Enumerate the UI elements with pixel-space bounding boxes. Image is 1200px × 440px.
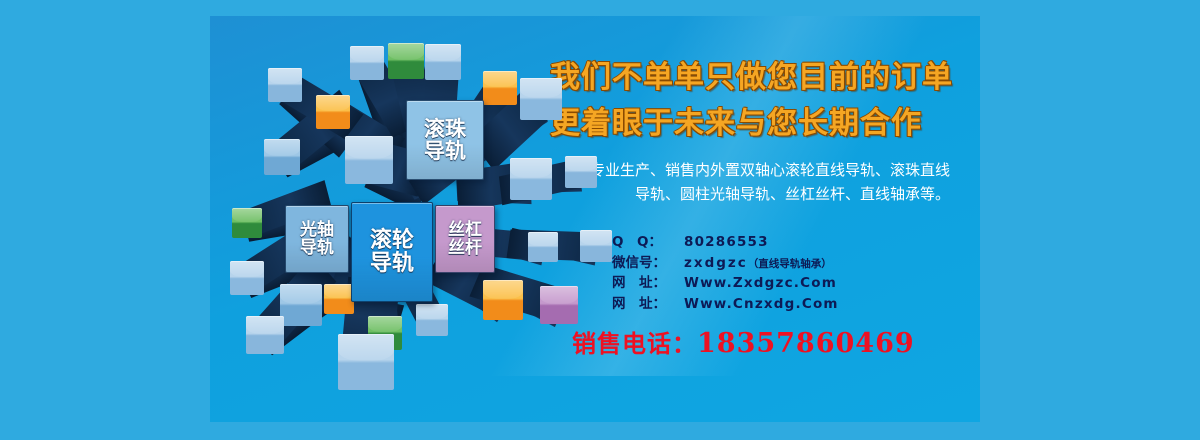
contact-row[interactable]: 网 址：Www.Cnzxdg.Com xyxy=(612,294,952,315)
product-label-text: 滚轮 导轨 xyxy=(370,229,414,276)
contact-value: Www.Cnzxdg.Com xyxy=(684,294,839,315)
product-label-text: 光轴 导轨 xyxy=(300,221,334,257)
cube-face xyxy=(230,261,264,295)
sales-phone[interactable]: 销售电话：18357860469 xyxy=(572,324,972,359)
sales-phone-number: 18357860469 xyxy=(697,328,915,359)
decorative-cube xyxy=(338,334,394,390)
decorative-cube xyxy=(350,46,384,80)
cube-face xyxy=(388,43,424,79)
product-label-gunlun-daogui[interactable]: 滚轮 导轨 xyxy=(351,202,433,302)
decorative-cube xyxy=(246,316,284,354)
cube-face xyxy=(280,284,322,326)
decorative-cube xyxy=(264,139,300,175)
decorative-cube xyxy=(580,230,612,262)
cube-face xyxy=(425,44,461,80)
cube-face xyxy=(232,208,262,238)
decorative-cube xyxy=(483,71,517,105)
decorative-cube xyxy=(232,208,262,238)
contact-info-block: Q Q：80286553微信号：zxdgzc（直线导轨轴承）网 址：Www.Zx… xyxy=(612,232,952,314)
cube-face xyxy=(350,46,384,80)
cube-face xyxy=(324,284,354,314)
contact-row[interactable]: 网 址：Www.Zxdgzc.Com xyxy=(612,273,952,294)
cube-face xyxy=(540,286,578,324)
cube-face xyxy=(316,95,350,129)
product-label-guangzhou-daogui[interactable]: 光轴 导轨 xyxy=(285,205,349,273)
decorative-cube xyxy=(540,286,578,324)
decorative-cube xyxy=(345,136,393,184)
cube-face xyxy=(268,68,302,102)
product-label-sigang-sigan[interactable]: 丝杠 丝杆 xyxy=(435,205,495,273)
banner-copy-column: 我们不单单只做您目前的订单 更着眼于未来与您长期合作 专业生产、销售内外置双轴心… xyxy=(550,16,970,422)
headline-line-2: 更着眼于未来与您长期合作 xyxy=(550,98,970,142)
decorative-cube xyxy=(230,261,264,295)
contact-note: （直线导轨轴承） xyxy=(748,257,832,273)
decorative-cube xyxy=(268,68,302,102)
contact-label: Q Q： xyxy=(612,232,684,253)
product-label-text: 丝杠 丝杆 xyxy=(448,221,482,257)
cube-face xyxy=(338,334,394,390)
cube-face xyxy=(483,280,523,320)
advertisement-banner: 滚珠 导轨光轴 导轨滚轮 导轨丝杠 丝杆 我们不单单只做您目前的订单 更着眼于未… xyxy=(0,0,1200,440)
decorative-cube xyxy=(416,304,448,336)
decorative-cube xyxy=(520,78,562,120)
cube-face xyxy=(483,71,517,105)
decorative-cube xyxy=(425,44,461,80)
decorative-cube xyxy=(324,284,354,314)
cube-face xyxy=(520,78,562,120)
contact-label: 网 址： xyxy=(612,294,684,315)
contact-row[interactable]: Q Q：80286553 xyxy=(612,232,952,253)
sales-phone-label: 销售电话： xyxy=(572,330,697,358)
decorative-cube xyxy=(483,280,523,320)
cube-face xyxy=(528,232,558,262)
cube-face xyxy=(264,139,300,175)
cube-face xyxy=(345,136,393,184)
product-label-gunzhu-daogui[interactable]: 滚珠 导轨 xyxy=(406,100,484,180)
cube-face xyxy=(565,156,597,188)
banner-plate: 滚珠 导轨光轴 导轨滚轮 导轨丝杠 丝杆 我们不单单只做您目前的订单 更着眼于未… xyxy=(210,16,980,422)
contact-value: Www.Zxdgzc.Com xyxy=(684,273,837,294)
contact-value: zxdgzc xyxy=(684,253,748,274)
decorative-cube xyxy=(565,156,597,188)
cube-face xyxy=(510,158,552,200)
headline-line-1: 我们不单单只做您目前的订单 xyxy=(550,52,970,96)
decorative-cube xyxy=(388,43,424,79)
product-label-text: 滚珠 导轨 xyxy=(424,118,466,163)
contact-value: 80286553 xyxy=(684,232,769,253)
cube-face xyxy=(580,230,612,262)
company-description: 专业生产、销售内外置双轴心滚轮直线导轨、滚珠直线导轨、圆柱光轴导轨、丝杠丝杆、直… xyxy=(578,158,950,207)
contact-label: 网 址： xyxy=(612,273,684,294)
decorative-cube xyxy=(316,95,350,129)
decorative-cube xyxy=(280,284,322,326)
decorative-cube xyxy=(510,158,552,200)
contact-label: 微信号： xyxy=(612,253,684,274)
decorative-cube xyxy=(528,232,558,262)
cube-face xyxy=(416,304,448,336)
cube-face xyxy=(246,316,284,354)
contact-row[interactable]: 微信号：zxdgzc（直线导轨轴承） xyxy=(612,253,952,274)
